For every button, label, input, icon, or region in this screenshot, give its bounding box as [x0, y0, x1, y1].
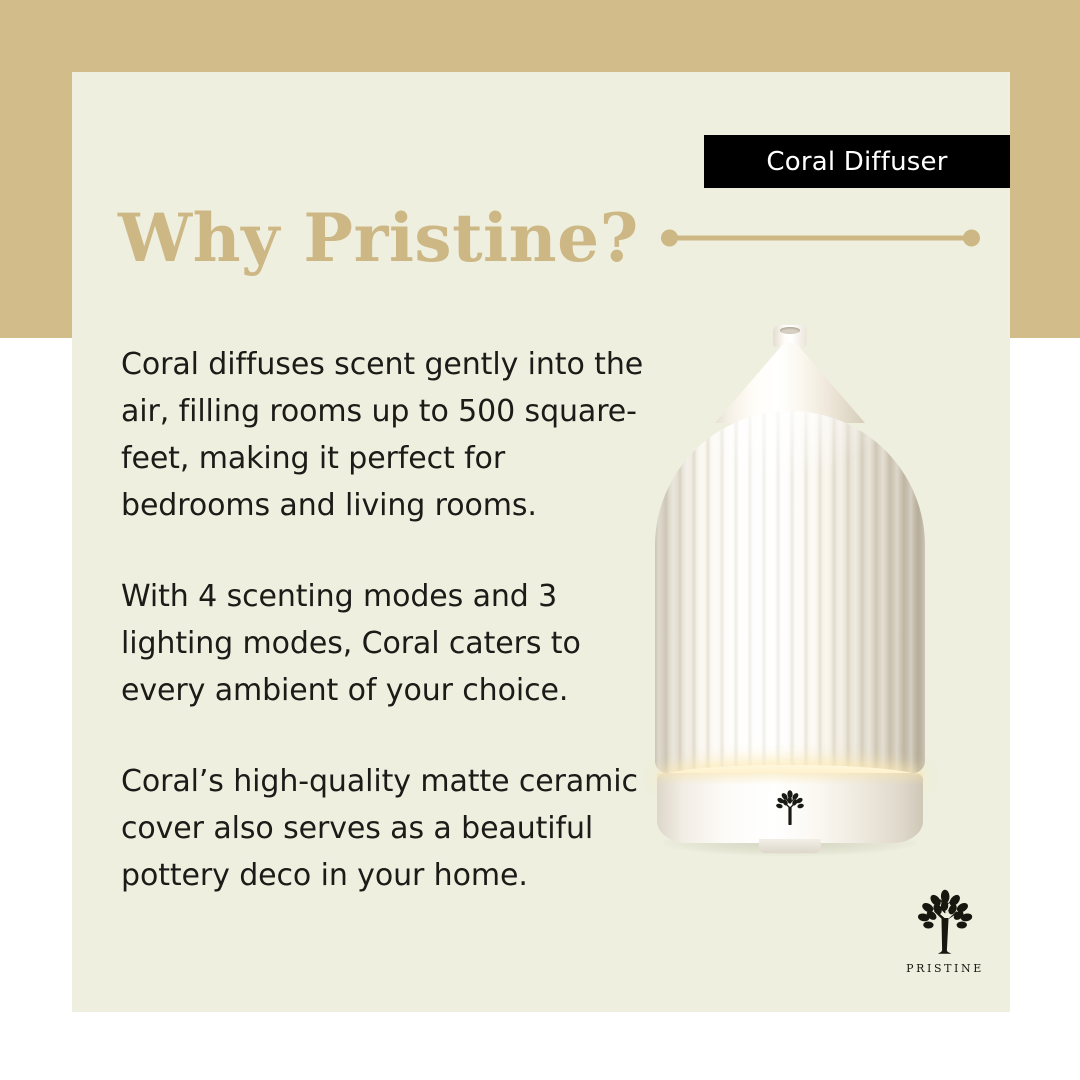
product-badge-label: Coral Diffuser	[766, 149, 947, 175]
body-paragraph-2: With 4 scenting modes and 3 lighting mod…	[121, 573, 661, 714]
body-copy: Coral diffuses scent gently into the air…	[121, 341, 661, 899]
diffuser-foot	[759, 839, 821, 853]
heading-row: Why Pristine?	[118, 193, 978, 283]
tree-icon	[909, 888, 981, 956]
brand-logo: PRISTINE	[893, 888, 997, 975]
product-image	[655, 325, 925, 850]
dot-icon-right	[963, 230, 980, 247]
body-paragraph-3: Coral’s high-quality matte ceramic cover…	[121, 758, 661, 899]
diffuser-base-shade	[657, 773, 923, 785]
tree-icon	[773, 789, 807, 827]
page-title: Why Pristine?	[118, 205, 639, 271]
body-paragraph-1: Coral diffuses scent gently into the air…	[121, 341, 661, 529]
decorative-rule	[663, 227, 978, 249]
diffuser-base	[657, 773, 923, 843]
diffuser-spout-opening	[780, 327, 800, 334]
dot-icon-left	[661, 230, 678, 247]
rule-line-icon	[663, 236, 978, 241]
diffuser-body	[655, 411, 925, 773]
diffuser-body-sheen	[655, 411, 925, 773]
product-badge: Coral Diffuser	[704, 135, 1010, 188]
brand-name: PRISTINE	[893, 962, 997, 975]
poster-canvas: Coral Diffuser Why Pristine? Coral diffu…	[0, 0, 1080, 1080]
